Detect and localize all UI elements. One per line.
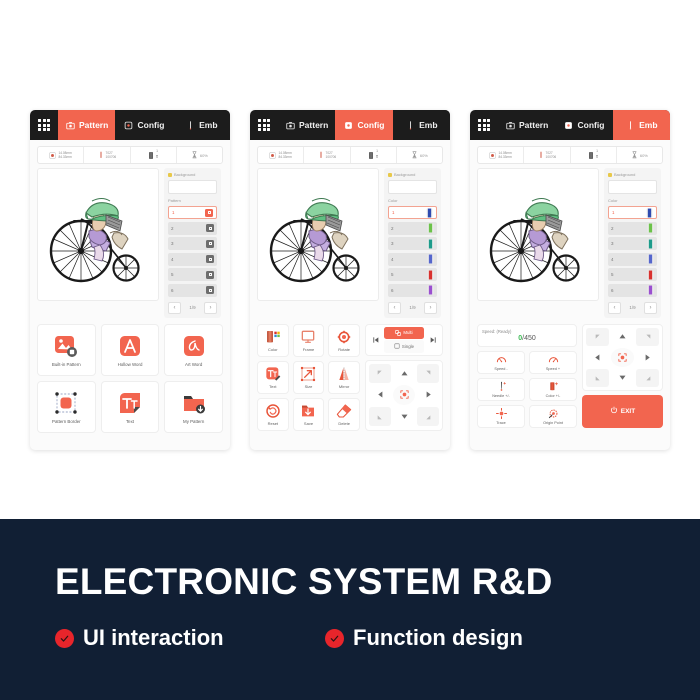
emb-left-controls: Speed: (Ready) 0/450 Speed - — [477, 324, 577, 428]
reset-label: Reset — [268, 421, 278, 426]
pattern-sidebar: Background Pattern 1 2 3 — [164, 168, 221, 318]
thread-spool-icon — [427, 285, 434, 295]
list-item-index: 3 — [171, 241, 174, 246]
next-page-button[interactable]: › — [204, 302, 217, 314]
arrow-left-icon[interactable] — [369, 385, 391, 405]
prev-page-button[interactable]: ‹ — [168, 302, 181, 314]
spool-icon — [368, 151, 374, 160]
config-panel: Pattern Config Emb 14.08m — [250, 110, 450, 450]
arrow-up-left-icon[interactable] — [586, 328, 609, 347]
stitch-total: 100706 — [106, 155, 117, 159]
bullet-label: UI interaction — [83, 625, 224, 651]
design-canvas[interactable] — [37, 168, 159, 301]
background-swatch-icon — [608, 173, 612, 177]
save-folder-icon — [300, 402, 317, 419]
banner: ELECTRONIC SYSTEM R&D UI interaction Fun… — [0, 519, 700, 700]
stitch-total: 100706 — [546, 155, 557, 159]
pattern-thumb-icon — [205, 209, 213, 217]
pattern-panel: Pattern Config Emb 14.08m — [30, 110, 230, 450]
arrow-up-right-icon[interactable] — [636, 328, 659, 347]
gauge-down-icon — [495, 354, 507, 366]
grid-menu-icon — [258, 119, 270, 131]
tab-emb[interactable]: Emb — [393, 110, 450, 140]
color-label: Color — [268, 347, 278, 352]
text-tool-icon — [117, 390, 143, 416]
background-label: Background — [174, 172, 195, 177]
banner-bullets: UI interaction Function design — [55, 625, 700, 651]
mode-stack: Multi Single — [384, 327, 424, 353]
arrow-left-icon[interactable] — [586, 348, 609, 367]
next-page-button[interactable]: › — [424, 302, 437, 314]
speed-readout: Speed: (Ready) 0/450 — [477, 324, 577, 347]
list-item-index: 2 — [611, 226, 614, 231]
rotate-icon — [336, 328, 353, 345]
origin-point-button[interactable]: Origin Point — [529, 405, 577, 428]
color-sidebar: Background Color 1 2 3 — [384, 168, 441, 318]
stitch-total: 100706 — [326, 155, 337, 159]
prev-page-button[interactable]: ‹ — [608, 302, 621, 314]
list-item-index: 2 — [171, 226, 174, 231]
thread-spool-icon — [647, 285, 654, 295]
background-swatch-icon — [388, 173, 392, 177]
tab-config-label: Config — [358, 120, 385, 130]
resize-arrow-icon — [300, 365, 317, 382]
gear-icon — [344, 120, 354, 130]
prev-page-button[interactable]: ‹ — [388, 302, 401, 314]
info-size: 14.08mm 84.33mm — [258, 147, 304, 163]
arrow-up-icon[interactable] — [393, 364, 415, 384]
list-item-index: 1 — [392, 210, 395, 215]
list-item[interactable]: 3 — [608, 237, 657, 250]
stitch-icon — [318, 151, 324, 159]
art-word-label: Art Word — [185, 362, 202, 367]
size-height: 84.33mm — [278, 155, 291, 159]
background-header: Background — [608, 172, 657, 177]
folder-download-icon — [181, 390, 207, 416]
speed-label: Speed: — [482, 329, 495, 334]
size-height: 84.33mm — [498, 155, 511, 159]
tab-bar: Pattern Config Emb — [30, 110, 230, 140]
page-indicator: 1/9 — [629, 305, 635, 310]
origin-point-icon — [547, 408, 559, 420]
color-button[interactable]: Color — [257, 324, 289, 357]
tab-config-label: Config — [138, 120, 165, 130]
list-item[interactable]: 3 — [388, 237, 437, 250]
arrow-down-left-icon[interactable] — [369, 407, 391, 427]
arrow-up-left-icon[interactable] — [369, 364, 391, 384]
color-sidebar: Background Color 1 2 3 — [604, 168, 661, 318]
color-total: 6 — [376, 155, 378, 159]
reset-icon — [264, 402, 281, 419]
text-button[interactable]: Text — [101, 381, 160, 433]
config-tile-grid: Color Frame Rotate — [257, 324, 360, 431]
app-grid-button[interactable] — [250, 110, 278, 140]
needle-icon — [625, 120, 635, 130]
color-list: 1 2 3 4 5 — [388, 206, 437, 297]
speed-down-label: Speed - — [494, 367, 507, 371]
list-item[interactable]: 6 — [388, 284, 437, 297]
panel-body: Background Color 1 2 3 — [470, 164, 670, 318]
size-icon — [489, 152, 496, 159]
speed-down-button[interactable]: Speed - — [477, 351, 525, 374]
config-right-controls: Multi Single — [365, 324, 443, 431]
info-stitches: 7027 100706 — [304, 147, 350, 163]
bounding-box-icon — [53, 390, 79, 416]
tab-emb-label: Emb — [639, 120, 657, 130]
list-item-index: 6 — [391, 288, 394, 293]
exit-button[interactable]: EXIT — [582, 395, 663, 428]
skip-back-icon[interactable] — [369, 327, 382, 353]
color-total: 6 — [156, 155, 158, 159]
art-script-icon — [181, 333, 207, 359]
emb-panel: Pattern Config Emb 14.08m — [470, 110, 670, 450]
info-color: 1 6 — [131, 147, 177, 163]
power-icon — [610, 406, 618, 416]
tab-pattern[interactable]: Pattern — [498, 110, 555, 140]
list-item-index: 5 — [171, 272, 174, 277]
thread-spool-icon — [647, 254, 654, 264]
stitch-text: 7027 100706 — [546, 151, 557, 160]
direction-pad — [582, 324, 663, 392]
emb-tools: Speed: (Ready) 0/450 Speed - — [470, 318, 670, 435]
list-item-index: 3 — [611, 241, 614, 246]
list-item[interactable]: 1 — [608, 206, 657, 219]
info-stitches: 7027 100706 — [84, 147, 130, 163]
background-input[interactable] — [168, 180, 217, 194]
size-text: 14.08mm 84.33mm — [58, 151, 71, 160]
bullet-label: Function design — [353, 625, 523, 651]
background-label: Background — [614, 172, 635, 177]
color-fraction: 1 6 — [376, 150, 378, 159]
pattern-list: 1 2 3 4 5 — [168, 206, 217, 297]
text-edit-icon — [264, 365, 281, 382]
info-progress: 60% — [177, 147, 222, 163]
thread-spool-icon — [426, 208, 433, 218]
list-item[interactable]: 4 — [608, 253, 657, 266]
arrow-up-right-icon[interactable] — [417, 364, 439, 384]
pattern-tile-grid: Built-in Pattern Hollow Word Art Word — [37, 324, 223, 433]
tab-config[interactable]: Config — [335, 110, 392, 140]
list-item[interactable]: 5 — [388, 268, 437, 281]
arrow-right-icon[interactable] — [417, 385, 439, 405]
hourglass-icon — [631, 151, 638, 159]
background-header: Background — [168, 172, 217, 177]
arrow-down-left-icon[interactable] — [586, 369, 609, 388]
direction-pad — [365, 360, 443, 431]
color-adjust-button[interactable]: Color +/- — [529, 378, 577, 401]
tab-bar: Pattern Config Emb — [470, 110, 670, 140]
info-progress: 60% — [617, 147, 662, 163]
size-text: 14.08mm 84.33mm — [278, 151, 291, 160]
thread-spool-icon — [647, 270, 654, 280]
frame-button[interactable]: Frame — [293, 324, 325, 357]
size-label: Size — [305, 384, 313, 389]
size-icon — [269, 152, 276, 159]
pattern-thumb-icon — [206, 286, 214, 294]
mode-multi-label: Multi — [403, 330, 412, 335]
text-edit-button[interactable]: Text — [257, 361, 289, 394]
save-button[interactable]: Save — [293, 398, 325, 431]
mode-single[interactable]: Single — [384, 340, 424, 352]
list-item[interactable]: 6 — [608, 284, 657, 297]
gauge-up-icon — [547, 354, 559, 366]
list-item[interactable]: 2 — [608, 222, 657, 235]
info-size: 14.08mm 84.33mm — [478, 147, 524, 163]
color-fraction: 1 6 — [596, 150, 598, 159]
tab-config[interactable]: Config — [115, 110, 172, 140]
list-item-index: 4 — [611, 257, 614, 262]
arrow-down-icon[interactable] — [393, 407, 415, 427]
info-color: 1 6 — [351, 147, 397, 163]
list-item-index: 1 — [612, 210, 615, 215]
thread-spool-icon — [427, 239, 434, 249]
grid-menu-icon — [38, 119, 50, 131]
pattern-thumb-icon — [206, 255, 214, 263]
progress-value: 60% — [420, 153, 428, 158]
spool-icon — [588, 151, 594, 160]
gear-icon — [124, 120, 134, 130]
mode-bar: Multi Single — [365, 324, 443, 356]
arrow-right-icon[interactable] — [636, 348, 659, 367]
spool-palette-icon — [264, 328, 281, 345]
hoop-frame-icon — [300, 328, 317, 345]
needle-icon — [185, 120, 195, 130]
info-bar: 14.08mm 84.33mm 7027 100706 1 — [37, 146, 223, 164]
gear-icon — [564, 120, 574, 130]
page-indicator: 1/9 — [409, 305, 415, 310]
tab-pattern-label: Pattern — [519, 120, 548, 130]
mode-single-label: Single — [402, 344, 414, 349]
thread-spool-icon — [647, 223, 654, 233]
list-item[interactable]: 4 — [388, 253, 437, 266]
speed-up-label: Speed + — [546, 367, 560, 371]
eraser-icon — [336, 402, 353, 419]
list-item[interactable]: 5 — [168, 268, 217, 281]
pattern-tools: Built-in Pattern Hollow Word Art Word — [30, 318, 230, 440]
color-list-label: Color — [608, 198, 657, 203]
tab-emb[interactable]: Emb — [613, 110, 670, 140]
list-item[interactable]: 3 — [168, 237, 217, 250]
arrow-up-icon[interactable] — [611, 328, 634, 347]
config-tools: Color Frame Rotate — [250, 318, 450, 438]
speed-state: (Ready) — [496, 329, 511, 334]
size-height: 84.33mm — [58, 155, 71, 159]
thread-spool-icon — [427, 254, 434, 264]
info-size: 14.08mm 84.33mm — [38, 147, 84, 163]
panel-row: Pattern Config Emb 14.08m — [0, 110, 700, 450]
speed-up-button[interactable]: Speed + — [529, 351, 577, 374]
save-label: Save — [304, 421, 313, 426]
color-total: 6 — [596, 155, 598, 159]
pattern-list-label: Pattern — [168, 198, 217, 203]
app-grid-button[interactable] — [30, 110, 58, 140]
list-item-index: 4 — [171, 257, 174, 262]
speed-status: Speed: (Ready) — [482, 329, 572, 334]
builtin-pattern-label: Built-in Pattern — [52, 362, 81, 367]
bullet-function-design: Function design — [325, 625, 523, 651]
tab-pattern[interactable]: Pattern — [58, 110, 115, 140]
background-input[interactable] — [608, 180, 657, 194]
emb-right-controls: EXIT — [582, 324, 663, 428]
tab-config[interactable]: Config — [555, 110, 612, 140]
exit-label: EXIT — [621, 408, 635, 415]
hourglass-icon — [191, 151, 198, 159]
thread-spool-icon — [427, 223, 434, 233]
reset-button[interactable]: Reset — [257, 398, 289, 431]
list-item[interactable]: 2 — [388, 222, 437, 235]
info-color: 1 6 — [571, 147, 617, 163]
list-item[interactable]: 1 — [168, 206, 217, 219]
mode-multi[interactable]: Multi — [384, 327, 424, 339]
my-pattern-button[interactable]: My Pattern — [164, 381, 223, 433]
rotate-label: Rotate — [338, 347, 350, 352]
mirror-label: Mirror — [339, 384, 349, 389]
needle-adjust-button[interactable]: Needle +/- — [477, 378, 525, 401]
color-fraction: 1 6 — [156, 150, 158, 159]
origin-point-label: Origin Point — [543, 421, 563, 425]
background-swatch-icon — [168, 173, 172, 177]
grid-menu-icon — [478, 119, 490, 131]
arrow-down-icon[interactable] — [611, 369, 634, 388]
list-item[interactable]: 5 — [608, 268, 657, 281]
design-canvas[interactable] — [477, 168, 599, 301]
needle-adjust-icon — [495, 381, 507, 393]
camera-icon — [505, 120, 515, 130]
info-bar: 14.08mm 84.33mm 7027 100706 1 — [257, 146, 443, 164]
list-item-index: 6 — [611, 288, 614, 293]
color-list: 1 2 3 4 5 — [608, 206, 657, 297]
list-item[interactable]: 4 — [168, 253, 217, 266]
app-grid-button[interactable] — [470, 110, 498, 140]
info-stitches: 7027 100706 — [524, 147, 570, 163]
panel-body: Background Pattern 1 2 3 — [30, 164, 230, 318]
arrow-down-right-icon[interactable] — [636, 369, 659, 388]
pagination: ‹ 1/9 › — [168, 300, 217, 314]
list-item[interactable]: 2 — [168, 222, 217, 235]
hollow-word-label: Hollow Word — [118, 362, 143, 367]
design-canvas[interactable] — [257, 168, 379, 301]
stitch-icon — [538, 151, 544, 159]
art-word-button[interactable]: Art Word — [164, 324, 223, 376]
rotate-button[interactable]: Rotate — [328, 324, 360, 357]
thread-spool-icon — [647, 239, 654, 249]
needle-icon — [405, 120, 415, 130]
list-item-index: 6 — [171, 288, 174, 293]
size-text: 14.08mm 84.33mm — [498, 151, 511, 160]
page-indicator: 1/9 — [189, 305, 195, 310]
size-icon — [49, 152, 56, 159]
trace-label: Trace — [496, 421, 506, 425]
list-item-index: 4 — [391, 257, 394, 262]
pattern-border-label: Pattern Border — [52, 419, 81, 424]
frame-label: Frame — [303, 347, 315, 352]
trace-target-icon — [495, 408, 507, 420]
image-pattern-icon — [53, 333, 79, 359]
bullet-ui-interaction: UI interaction — [55, 625, 325, 651]
multi-icon — [395, 330, 401, 336]
skip-forward-icon[interactable] — [426, 327, 439, 353]
speed-max: 450 — [524, 335, 536, 342]
list-item-index: 1 — [172, 210, 175, 215]
check-circle-icon — [325, 629, 344, 648]
pattern-thumb-icon — [206, 240, 214, 248]
delete-button[interactable]: Delete — [328, 398, 360, 431]
list-item-index: 3 — [391, 241, 394, 246]
progress-value: 60% — [640, 153, 648, 158]
info-bar: 14.08mm 84.33mm 7027 100706 1 — [477, 146, 663, 164]
emb-tile-grid: Speed - Speed + Needle +/- — [477, 351, 577, 428]
list-item[interactable]: 1 — [388, 206, 437, 219]
background-label: Background — [394, 172, 415, 177]
panel-body: Background Color 1 2 3 — [250, 164, 450, 318]
thread-spool-icon — [646, 208, 653, 218]
next-page-button[interactable]: › — [644, 302, 657, 314]
progress-value: 60% — [200, 153, 208, 158]
camera-icon — [65, 120, 75, 130]
delete-label: Delete — [338, 421, 350, 426]
pagination: ‹ 1/9 › — [388, 300, 437, 314]
text-label: Text — [126, 419, 134, 424]
spool-icon — [148, 151, 154, 160]
arrow-down-right-icon[interactable] — [417, 407, 439, 427]
banner-title: ELECTRONIC SYSTEM R&D — [55, 563, 700, 600]
pattern-border-button[interactable]: Pattern Border — [37, 381, 96, 433]
info-progress: 60% — [397, 147, 442, 163]
list-item-index: 2 — [391, 226, 394, 231]
hourglass-icon — [411, 151, 418, 159]
background-input[interactable] — [388, 180, 437, 194]
color-adjust-label: Color +/- — [546, 394, 561, 398]
tab-emb[interactable]: Emb — [173, 110, 230, 140]
thread-spool-icon — [427, 270, 434, 280]
trace-button[interactable]: Trace — [477, 405, 525, 428]
tab-pattern-label: Pattern — [79, 120, 108, 130]
tab-config-label: Config — [578, 120, 605, 130]
list-item-index: 5 — [611, 272, 614, 277]
needle-adjust-label: Needle +/- — [492, 394, 510, 398]
stitch-text: 7027 100706 — [106, 151, 117, 160]
tab-emb-label: Emb — [419, 120, 437, 130]
list-item[interactable]: 6 — [168, 284, 217, 297]
my-pattern-label: My Pattern — [183, 419, 204, 424]
mirror-button[interactable]: Mirror — [328, 361, 360, 394]
hollow-word-button[interactable]: Hollow Word — [101, 324, 160, 376]
camera-icon — [285, 120, 295, 130]
center-target-icon[interactable] — [611, 348, 634, 367]
background-header: Background — [388, 172, 437, 177]
size-button[interactable]: Size — [293, 361, 325, 394]
stitch-text: 7027 100706 — [326, 151, 337, 160]
pattern-thumb-icon — [206, 224, 214, 232]
center-target-icon[interactable] — [393, 385, 415, 405]
text-edit-label: Text — [269, 384, 276, 389]
builtin-pattern-button[interactable]: Built-in Pattern — [37, 324, 96, 376]
tab-bar: Pattern Config Emb — [250, 110, 450, 140]
tab-pattern-label: Pattern — [299, 120, 328, 130]
pattern-thumb-icon — [206, 271, 214, 279]
stitch-icon — [98, 151, 104, 159]
mirror-icon — [336, 365, 353, 382]
speed-value: 0/450 — [482, 335, 572, 342]
tab-emb-label: Emb — [199, 120, 217, 130]
spool-adjust-icon — [547, 381, 559, 393]
color-list-label: Color — [388, 198, 437, 203]
hollow-letter-a-icon — [117, 333, 143, 359]
pagination: ‹ 1/9 › — [608, 300, 657, 314]
check-circle-icon — [55, 629, 74, 648]
tab-pattern[interactable]: Pattern — [278, 110, 335, 140]
single-icon — [394, 343, 400, 349]
